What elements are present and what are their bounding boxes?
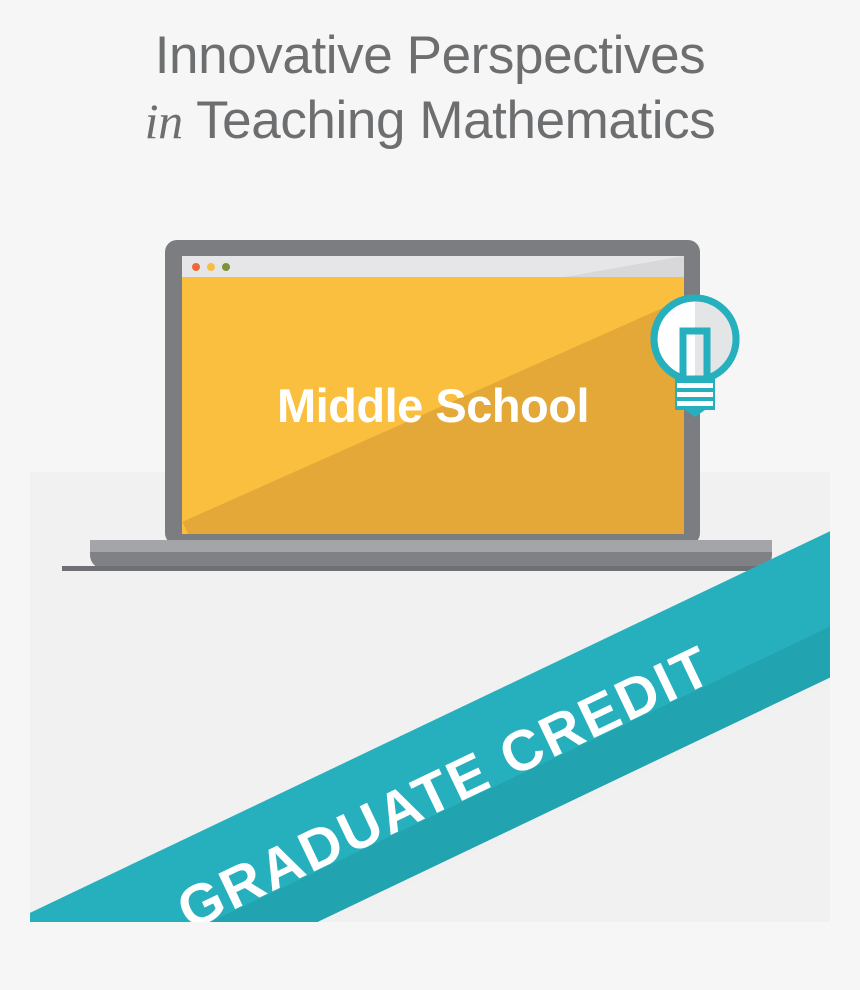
window-controls [192,263,230,271]
lightbulb-icon [648,292,742,417]
title-line-secondary: in Teaching Mathematics [0,93,860,150]
browser-titlebar [182,256,684,277]
banner-label: GRADUATE CREDIT [30,489,830,922]
close-dot-icon[interactable] [192,263,200,271]
title-line-primary: Innovative Perspectives [0,28,860,85]
title-line-secondary-rest: Teaching Mathematics [183,91,716,150]
title-emphasis: in [145,93,183,149]
graduate-credit-banner-clip: GRADUATE CREDIT [30,472,830,922]
graduate-credit-banner: GRADUATE CREDIT [30,489,830,922]
page-title: Innovative Perspectives in Teaching Math… [0,28,860,149]
promo-graphic: Innovative Perspectives in Teaching Math… [0,0,860,990]
minimize-dot-icon[interactable] [207,263,215,271]
maximize-dot-icon[interactable] [222,263,230,271]
titlebar-shade [564,256,684,277]
